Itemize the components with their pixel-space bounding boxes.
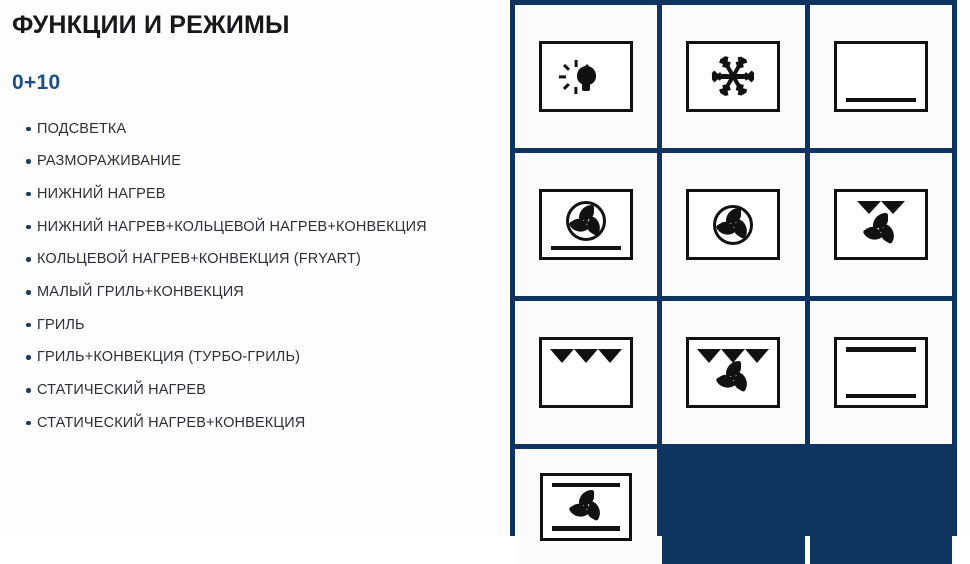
bullet-icon xyxy=(26,290,31,295)
bullet-icon xyxy=(26,257,31,262)
list-item-label: ПОДСВЕТКА xyxy=(37,121,126,137)
bottom-heat-bar-icon xyxy=(846,98,916,103)
light-bulb-icon xyxy=(562,54,610,100)
fan-icon xyxy=(861,210,901,250)
list-item-label: РАЗМОРАЖИВАНИЕ xyxy=(37,153,181,169)
list-item-label: ГРИЛЬ+КОНВЕКЦИЯ (ТУРБО-ГРИЛЬ) xyxy=(37,349,300,365)
oven-defrost-snowflake-icon-cell xyxy=(662,5,804,148)
top-heat-bar-icon xyxy=(846,347,916,352)
list-item: ГРИЛЬ xyxy=(8,318,500,333)
list-item: МАЛЫЙ ГРИЛЬ+КОНВЕКЦИЯ xyxy=(8,285,500,300)
bullet-icon xyxy=(26,192,31,197)
oven-bottom-heat-icon xyxy=(834,41,928,112)
list-item: СТАТИЧЕСКИЙ НАГРЕВ+КОНВЕКЦИЯ xyxy=(8,416,500,431)
oven-small-grill-fan-icon xyxy=(834,189,928,260)
list-item: ГРИЛЬ+КОНВЕКЦИЯ (ТУРБО-ГРИЛЬ) xyxy=(8,350,500,365)
oven-small-grill-fan-icon-cell xyxy=(810,153,952,296)
oven-bottom-heat-icon-cell xyxy=(810,5,952,148)
oven-static-heat-fan-icon xyxy=(540,473,632,541)
bullet-icon xyxy=(26,225,31,230)
list-item: ПОДСВЕТКА xyxy=(8,122,500,137)
bullet-icon xyxy=(26,159,31,164)
ring-fan-icon xyxy=(566,201,606,241)
list-item-label: МАЛЫЙ ГРИЛЬ+КОНВЕКЦИЯ xyxy=(37,284,244,300)
bottom-heat-bar-icon xyxy=(846,394,916,399)
bottom-heat-bar-icon xyxy=(551,246,621,251)
function-list: ПОДСВЕТКА РАЗМОРАЖИВАНИЕ НИЖНИЙ НАГРЕВ Н… xyxy=(8,122,500,431)
icon-grid-row xyxy=(515,5,952,148)
icon-grid-row xyxy=(515,301,952,444)
list-item: СТАТИЧЕСКИЙ НАГРЕВ xyxy=(8,383,500,398)
list-item: РАЗМОРАЖИВАНИЕ xyxy=(8,154,500,169)
slide-root: ФУНКЦИИ И РЕЖИМЫ 0+10 ПОДСВЕТКА РАЗМОРАЖ… xyxy=(0,0,970,536)
list-item-label: СТАТИЧЕСКИЙ НАГРЕВ+КОНВЕКЦИЯ xyxy=(37,415,305,431)
fan-icon xyxy=(566,487,606,527)
icon-grid-row xyxy=(515,449,952,564)
oven-light-icon xyxy=(539,41,633,112)
icon-grid-row xyxy=(515,153,952,296)
oven-light-icon-cell xyxy=(515,5,657,148)
bottom-heat-bar-icon xyxy=(552,526,620,531)
bullet-icon xyxy=(26,421,31,426)
icon-grid-panel xyxy=(510,0,957,536)
bullet-icon xyxy=(26,355,31,360)
bullet-icon xyxy=(26,127,31,132)
oven-bottom-heat-ring-fan-icon-cell xyxy=(515,153,657,296)
list-item: НИЖНИЙ НАГРЕВ xyxy=(8,187,500,202)
oven-static-heat-icon xyxy=(834,337,928,408)
list-item-label: НИЖНИЙ НАГРЕВ xyxy=(37,186,166,202)
bullet-icon xyxy=(26,388,31,393)
empty-grid-cell xyxy=(662,449,804,564)
oven-bottom-heat-ring-fan-icon xyxy=(539,189,633,260)
snowflake-icon xyxy=(710,54,756,100)
oven-grill-fan-icon-cell xyxy=(662,301,804,444)
page-title: ФУНКЦИИ И РЕЖИМЫ xyxy=(12,12,500,40)
text-panel: ФУНКЦИИ И РЕЖИМЫ 0+10 ПОДСВЕТКА РАЗМОРАЖ… xyxy=(0,0,500,536)
oven-defrost-snowflake-icon xyxy=(686,41,780,112)
oven-grill-icon-cell xyxy=(515,301,657,444)
oven-ring-heat-fan-icon xyxy=(686,189,780,260)
function-count-subtitle: 0+10 xyxy=(12,71,500,95)
oven-static-heat-icon-cell xyxy=(810,301,952,444)
list-item-label: ГРИЛЬ xyxy=(37,317,85,333)
oven-grill-icon xyxy=(539,337,633,408)
empty-grid-cell xyxy=(810,449,952,564)
bullet-icon xyxy=(26,323,31,328)
list-item: КОЛЬЦЕВОЙ НАГРЕВ+КОНВЕКЦИЯ (FRYART) xyxy=(8,252,500,267)
list-item-label: НИЖНИЙ НАГРЕВ+КОЛЬЦЕВОЙ НАГРЕВ+КОНВЕКЦИЯ xyxy=(37,219,427,235)
list-item: НИЖНИЙ НАГРЕВ+КОЛЬЦЕВОЙ НАГРЕВ+КОНВЕКЦИЯ xyxy=(8,220,500,235)
grill-icon xyxy=(550,349,622,363)
fan-icon xyxy=(713,358,753,398)
oven-static-heat-fan-icon-cell xyxy=(515,449,657,564)
ring-fan-icon xyxy=(713,205,753,245)
oven-grill-fan-icon xyxy=(686,337,780,408)
list-item-label: СТАТИЧЕСКИЙ НАГРЕВ xyxy=(37,382,206,398)
oven-ring-heat-fan-icon-cell xyxy=(662,153,804,296)
list-item-label: КОЛЬЦЕВОЙ НАГРЕВ+КОНВЕКЦИЯ (FRYART) xyxy=(37,251,361,267)
